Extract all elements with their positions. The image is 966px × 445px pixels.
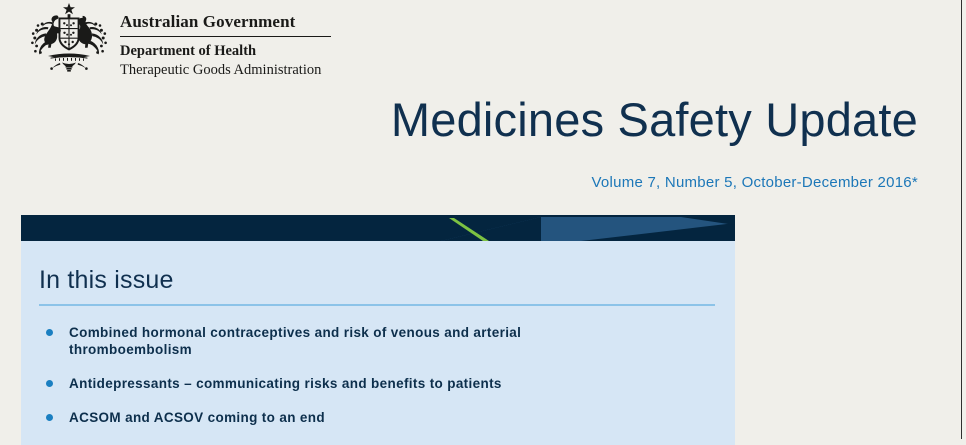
list-item[interactable]: ACSOM and ACSOV coming to an end (39, 409, 629, 426)
agency-label: Therapeutic Goods Administration (120, 61, 420, 80)
australian-coat-of-arms-icon (22, 2, 116, 78)
banner-geometry-icon (21, 215, 735, 241)
panel-heading-divider (39, 304, 715, 306)
government-wordmark: Australian Government Department of Heal… (120, 12, 420, 80)
wordmark-divider (120, 36, 331, 37)
department-label: Department of Health (120, 42, 420, 61)
decorative-banner (21, 215, 735, 241)
australian-government-label: Australian Government (120, 12, 420, 32)
in-this-issue-panel: In this issue Combined hormonal contrace… (21, 215, 735, 445)
in-this-issue-list: Combined hormonal contraceptives and ris… (21, 324, 735, 445)
list-item[interactable]: Combined hormonal contraceptives and ris… (39, 324, 629, 358)
masthead: Australian Government Department of Heal… (0, 0, 966, 90)
panel-heading: In this issue (39, 265, 735, 295)
publication-title: Medicines Safety Update (391, 92, 918, 148)
publication-issue-line: Volume 7, Number 5, October-December 201… (592, 173, 919, 193)
list-item[interactable]: Antidepressants – communicating risks an… (39, 375, 629, 392)
